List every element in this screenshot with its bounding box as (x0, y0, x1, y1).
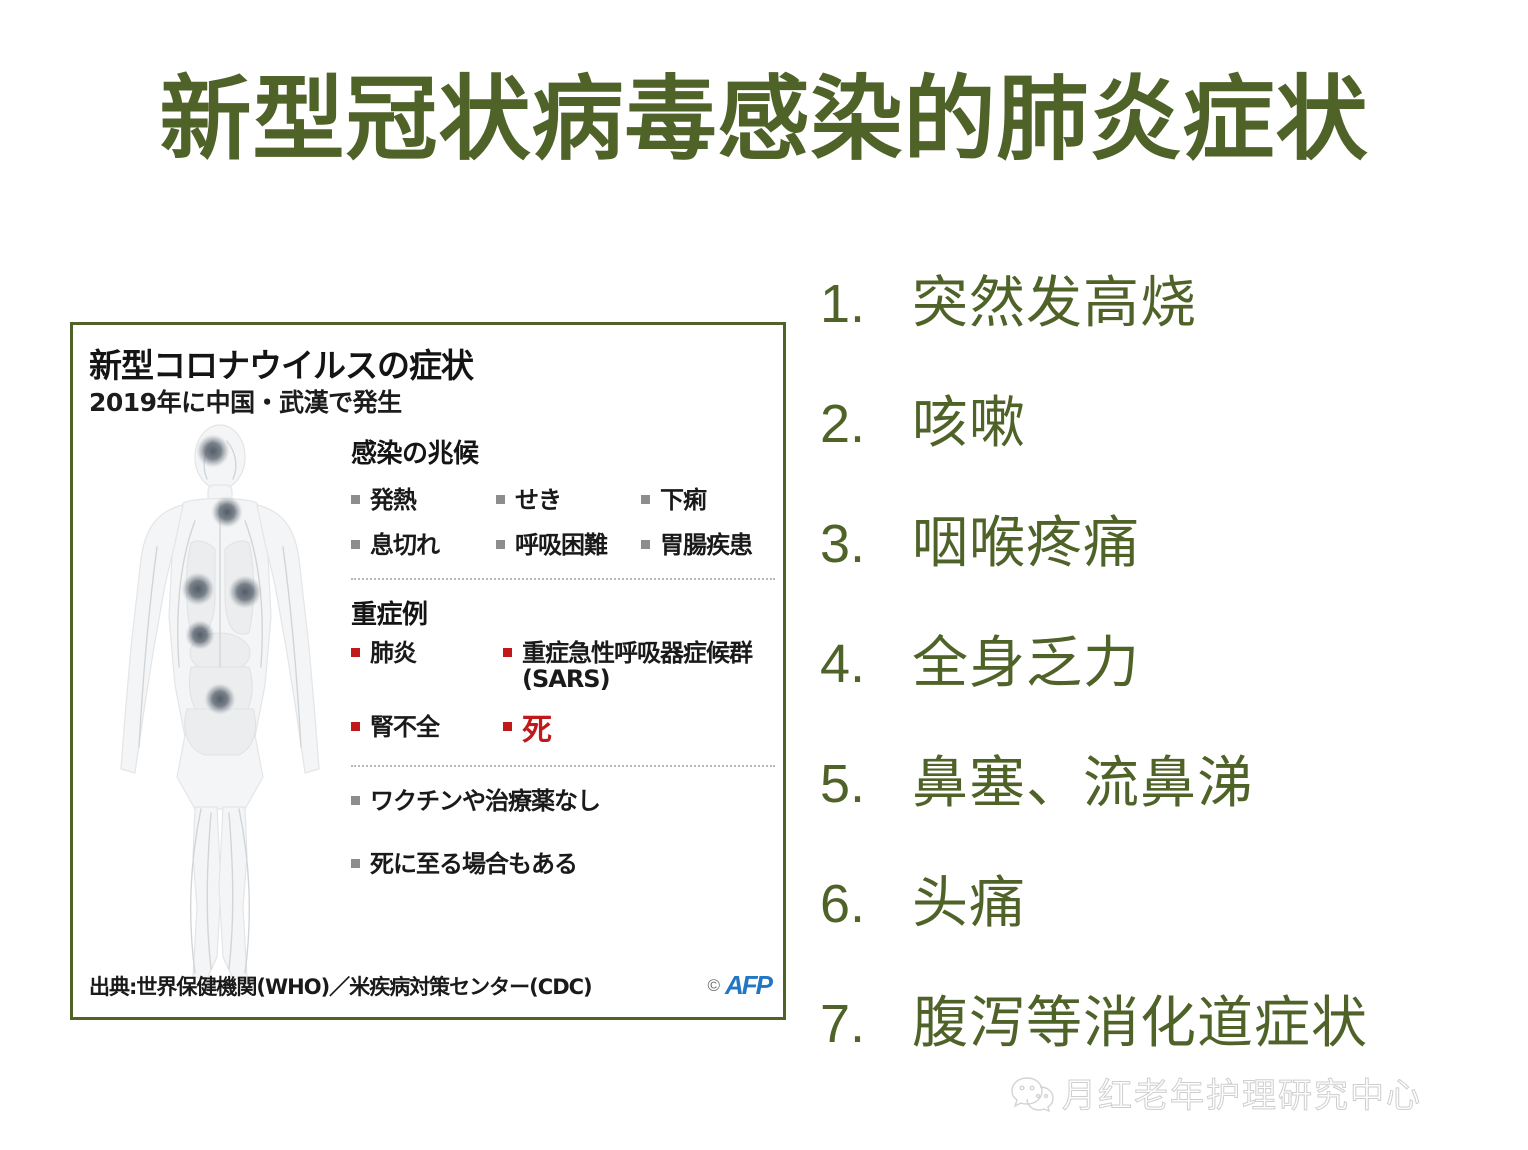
watermark-label: 月红老年护理研究中心 (1062, 1068, 1422, 1117)
sign-label: せき (515, 480, 561, 515)
note-item: ワクチンや治療薬なし (351, 781, 775, 816)
list-item-number: 6. (820, 873, 912, 935)
list-item-number: 5. (820, 753, 912, 815)
list-item-label: 咽喉疼痛 (912, 498, 1140, 579)
severe-label: 死 (522, 715, 551, 747)
signs-grid: 発熱 せき 下痢 息切れ 呼吸困難 (351, 480, 775, 560)
severe-item: 肺炎 (351, 641, 503, 693)
severe-label: 腎不全 (370, 715, 439, 741)
bullet-square-icon (503, 648, 512, 657)
bullet-square-icon (351, 796, 360, 805)
list-item-number: 1. (820, 273, 912, 335)
wechat-icon (1010, 1074, 1054, 1112)
sign-item: せき (496, 480, 641, 515)
list-item-label: 突然发高烧 (912, 258, 1197, 339)
list-item-label: 全身乏力 (912, 618, 1140, 699)
bullet-square-icon (496, 495, 505, 504)
list-item-number: 2. (820, 393, 912, 455)
list-item: 3. 咽喉疼痛 (820, 498, 1480, 618)
list-item-number: 7. (820, 993, 912, 1055)
section-divider (351, 578, 775, 580)
watermark: 月红老年护理研究中心 (1010, 1068, 1422, 1117)
list-item-label: 头痛 (912, 858, 1026, 939)
card-title: 新型コロナウイルスの症状 (89, 339, 473, 387)
bullet-square-icon (503, 722, 512, 731)
notes-list: ワクチンや治療薬なし 死に至る場合もある (351, 781, 775, 879)
bullet-square-icon (641, 495, 650, 504)
bullet-square-icon (351, 648, 360, 657)
severe-label: 肺炎 (370, 641, 416, 667)
note-label: ワクチンや治療薬なし (370, 781, 600, 816)
sign-item: 発熱 (351, 480, 496, 515)
severe-grid: 肺炎 重症急性呼吸器症候群 (SARS) 腎不全 死 (351, 641, 775, 747)
sign-label: 下痢 (660, 480, 706, 515)
symptom-list: 1. 突然发高烧 2. 咳嗽 3. 咽喉疼痛 4. 全身乏力 5. 鼻塞、流鼻涕… (820, 258, 1480, 1098)
sign-item: 息切れ (351, 525, 496, 560)
afp-logo: AFP (725, 970, 771, 1001)
card-subtitle: 2019年に中国・武漢で発生 (89, 383, 402, 419)
list-item: 2. 咳嗽 (820, 378, 1480, 498)
sign-item: 下痢 (641, 480, 775, 515)
sign-item: 胃腸疾患 (641, 525, 775, 560)
list-item: 4. 全身乏力 (820, 618, 1480, 738)
human-body-illustration (95, 417, 345, 987)
list-item-number: 3. (820, 513, 912, 575)
infographic-card: 新型コロナウイルスの症状 2019年に中国・武漢で発生 (70, 322, 786, 1020)
list-item: 1. 突然发高烧 (820, 258, 1480, 378)
sign-label: 呼吸困難 (515, 525, 607, 560)
list-item: 6. 头痛 (820, 858, 1480, 978)
bullet-square-icon (351, 540, 360, 549)
afp-credit: © AFP (707, 970, 771, 1001)
sign-label: 息切れ (370, 525, 439, 560)
note-label: 死に至る場合もある (370, 844, 577, 879)
severe-section-heading: 重症例 (351, 594, 775, 631)
section-divider (351, 765, 775, 767)
list-item-number: 4. (820, 633, 912, 695)
severe-item: 腎不全 (351, 715, 503, 747)
bullet-square-icon (351, 722, 360, 731)
signs-section-heading: 感染の兆候 (351, 433, 775, 470)
card-footer: 出典:世界保健機関(WHO)／米疾病対策センター(CDC) © AFP (89, 970, 771, 1001)
bullet-square-icon (641, 540, 650, 549)
source-attribution: 出典:世界保健機関(WHO)／米疾病対策センター(CDC) (89, 971, 592, 1001)
bullet-square-icon (351, 495, 360, 504)
list-item-label: 腹泻等消化道症状 (912, 978, 1368, 1059)
sign-item: 呼吸困難 (496, 525, 641, 560)
list-item: 5. 鼻塞、流鼻涕 (820, 738, 1480, 858)
bullet-square-icon (351, 859, 360, 868)
note-item: 死に至る場合もある (351, 844, 775, 879)
bullet-square-icon (496, 540, 505, 549)
list-item-label: 鼻塞、流鼻涕 (912, 738, 1254, 819)
severe-item: 重症急性呼吸器症候群 (SARS) (503, 641, 775, 693)
sign-label: 胃腸疾患 (660, 525, 752, 560)
copyright-icon: © (707, 976, 720, 996)
page-title: 新型冠状病毒感染的肺炎症状 (0, 72, 1528, 169)
severe-item-death: 死 (503, 715, 775, 747)
list-item-label: 咳嗽 (912, 378, 1026, 459)
sign-label: 発熱 (370, 480, 416, 515)
severe-label: 重症急性呼吸器症候群 (SARS) (522, 641, 752, 693)
